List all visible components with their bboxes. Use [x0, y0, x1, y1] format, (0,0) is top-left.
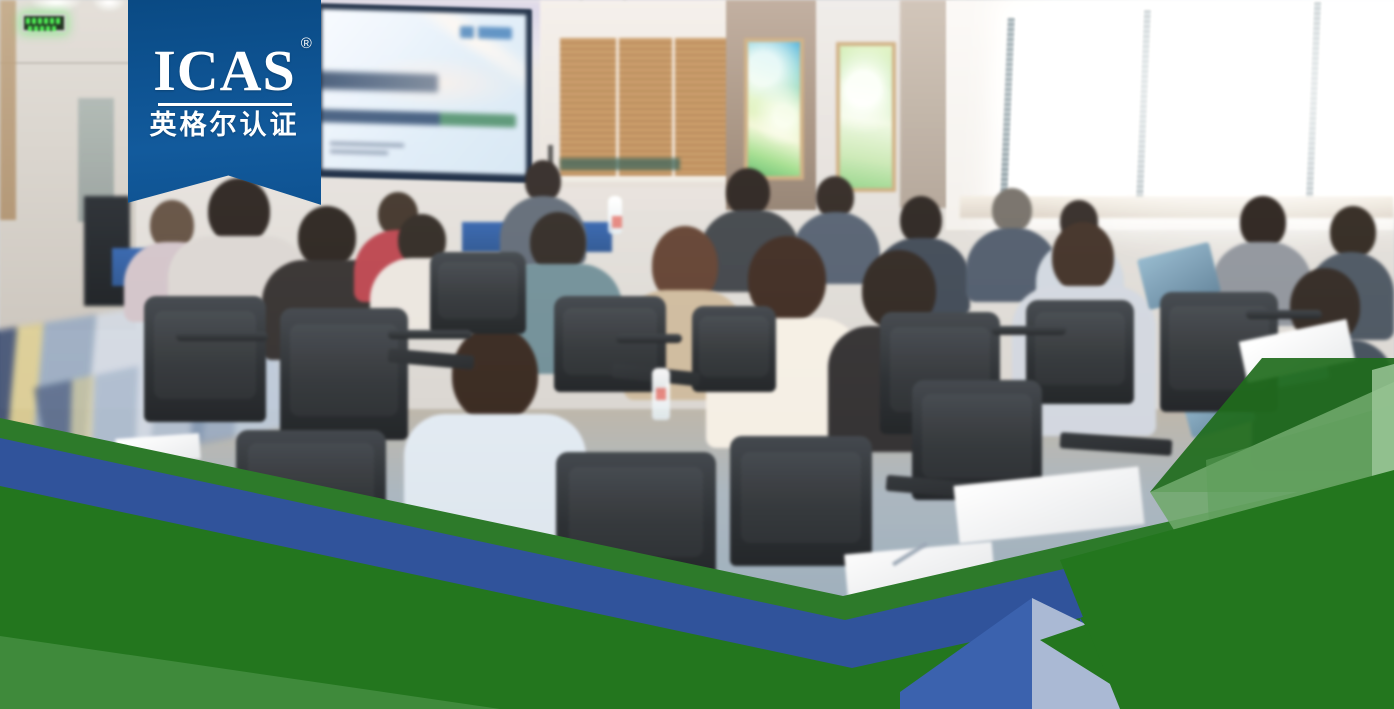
- chair: [280, 308, 408, 440]
- slide-heading: [322, 71, 438, 92]
- attendee-head: [1240, 196, 1286, 248]
- chair: [730, 436, 872, 566]
- wood-column-right: [900, 0, 952, 208]
- chair-armrest: [176, 332, 268, 341]
- attendee-head: [298, 206, 356, 268]
- chair: [1026, 300, 1134, 404]
- icas-chinese-name: 英格尔认证: [150, 112, 300, 140]
- registered-trademark-icon: ®: [301, 36, 313, 51]
- chair: [692, 306, 776, 392]
- brand-divider-rule: [158, 103, 292, 106]
- chair-armrest: [616, 334, 682, 343]
- chair: [556, 452, 716, 580]
- icas-wordmark-text: ICAS: [153, 38, 296, 103]
- attendee-head: [530, 212, 586, 272]
- projection-screen: [322, 9, 526, 175]
- floral-art-panel-blue: [744, 38, 804, 180]
- slide-light-streak: [359, 9, 526, 116]
- chair-armrest: [992, 326, 1066, 335]
- water-bottle: [608, 196, 622, 234]
- slide-corner-logo-icon: [460, 26, 512, 39]
- banner-canvas: ICAS ® 英格尔认证: [0, 0, 1394, 709]
- wall-edge-trim: [0, 0, 16, 220]
- window-pane-2: [1148, 6, 1306, 206]
- wooden-blinds: [560, 38, 732, 178]
- chair: [430, 252, 526, 334]
- attendee-head: [726, 168, 770, 216]
- attendee-head: [1052, 222, 1114, 292]
- chair: [144, 296, 266, 422]
- emergency-exit-sign: [22, 14, 66, 32]
- slide-caption-line-2: [330, 149, 388, 155]
- slide-caption-line-1: [330, 141, 404, 147]
- attendee-head: [992, 188, 1032, 232]
- slide-subheading: [322, 109, 516, 128]
- window-pane-3: [1318, 0, 1394, 206]
- floral-art-panel-green: [836, 42, 896, 192]
- attendee-head: [1330, 206, 1376, 258]
- blinds-dark-panel: [560, 158, 680, 170]
- ceiling-light: [30, 0, 82, 12]
- attendee-head: [900, 196, 942, 244]
- wall-seam: [0, 62, 136, 64]
- attendee-head: [208, 178, 270, 244]
- window-sill-left: [556, 176, 738, 186]
- water-bottle: [652, 368, 670, 420]
- chair: [236, 430, 386, 540]
- window-pane-1: [1006, 14, 1134, 206]
- icas-wordmark: ICAS ®: [153, 42, 296, 100]
- chair-armrest: [388, 330, 472, 339]
- chair-armrest: [1246, 310, 1322, 319]
- attendee-head: [452, 326, 538, 422]
